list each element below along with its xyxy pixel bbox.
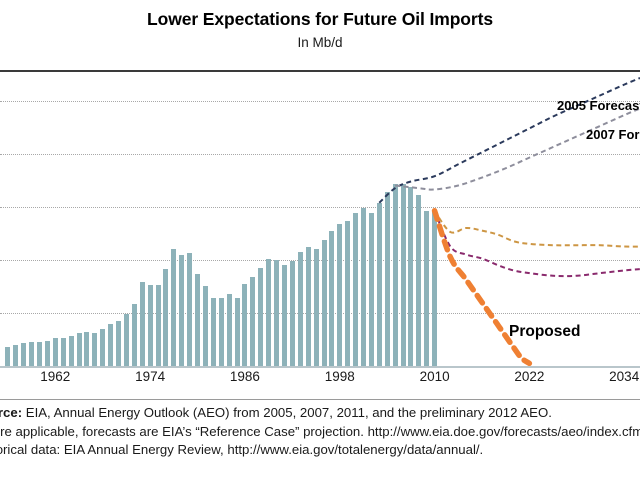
- x-axis-tick-1974: 1974: [135, 369, 165, 384]
- source-note: Source: EIA, Annual Energy Outlook (AEO)…: [0, 404, 640, 460]
- x-axis-tick-2034: 2034: [609, 369, 639, 384]
- chart-page: Lower Expectations for Future Oil Import…: [0, 0, 640, 480]
- x-axis-tick-1998: 1998: [325, 369, 355, 384]
- forecast-line-2011-forecast: [435, 211, 640, 247]
- series-label-proposed: Proposed: [509, 323, 580, 341]
- chart-header: Lower Expectations for Future Oil Import…: [0, 0, 640, 72]
- source-note-line-3: Historical data: EIA Annual Energy Revie…: [0, 441, 640, 460]
- x-axis-tick-1962: 1962: [40, 369, 70, 384]
- source-note-line-2: Where applicable, forecasts are EIA’s “R…: [0, 423, 640, 442]
- source-note-line-1-text: EIA, Annual Energy Outlook (AEO) from 20…: [22, 405, 552, 420]
- source-note-line-1: Source: EIA, Annual Energy Outlook (AEO)…: [0, 404, 640, 423]
- x-axis: 1962197419861998201020222034: [0, 366, 640, 396]
- x-axis-tick-2022: 2022: [514, 369, 544, 384]
- plot-area: 2005 Forecast 2007 Forecast Proposed: [0, 74, 640, 366]
- page-title: Lower Expectations for Future Oil Import…: [0, 0, 640, 30]
- x-axis-line: [0, 366, 640, 368]
- forecast-line-2012-forecast: [435, 211, 640, 276]
- x-axis-tick-1986: 1986: [230, 369, 260, 384]
- chart-subtitle: In Mb/d: [0, 30, 640, 50]
- source-label: Source:: [0, 405, 22, 420]
- series-label-2005-forecast: 2005 Forecast: [557, 98, 640, 113]
- footer-divider: [0, 399, 640, 400]
- header-divider: [0, 70, 640, 72]
- x-axis-tick-2010: 2010: [420, 369, 450, 384]
- series-label-2007-forecast: 2007 Forecast: [586, 127, 640, 142]
